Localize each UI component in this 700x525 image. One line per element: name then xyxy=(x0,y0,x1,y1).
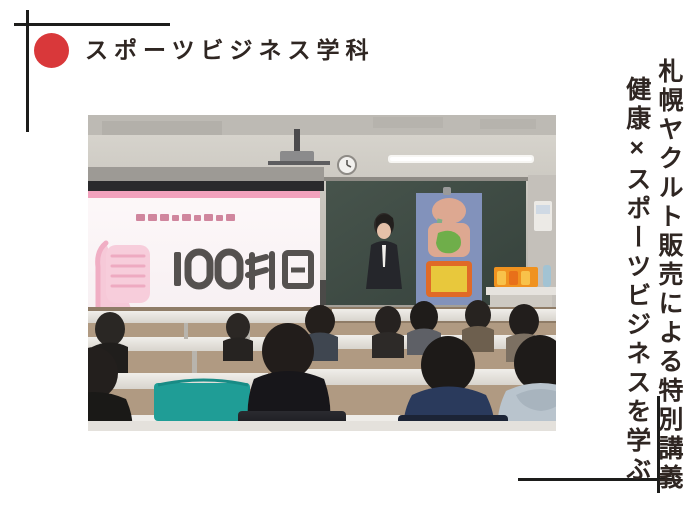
slide-heading-glyphs xyxy=(136,214,235,221)
top-left-horizontal-rule xyxy=(14,23,170,26)
top-left-vertical-rule xyxy=(26,10,29,132)
red-bullet-icon xyxy=(34,33,69,68)
digestive-system-poster xyxy=(416,187,482,305)
lecture-photo xyxy=(88,115,556,431)
vertical-headline: 健康×スポーツビジネスを学ぶ 札幌ヤクルト販売による特別講義 xyxy=(624,58,683,493)
headline-column-primary: 札幌ヤクルト販売による特別講義 xyxy=(656,58,682,493)
lecture-photo-illustration xyxy=(88,115,556,431)
department-header: スポーツビジネス学科 xyxy=(34,33,375,68)
headline-column-secondary: 健康×スポーツビジネスを学ぶ xyxy=(624,76,650,485)
promo-page: スポーツビジネス学科 健康×スポーツビジネスを学ぶ 札幌ヤクルト販売による特別講… xyxy=(0,0,700,525)
teal-bag xyxy=(154,383,250,421)
department-title: スポーツビジネス学科 xyxy=(85,39,375,62)
